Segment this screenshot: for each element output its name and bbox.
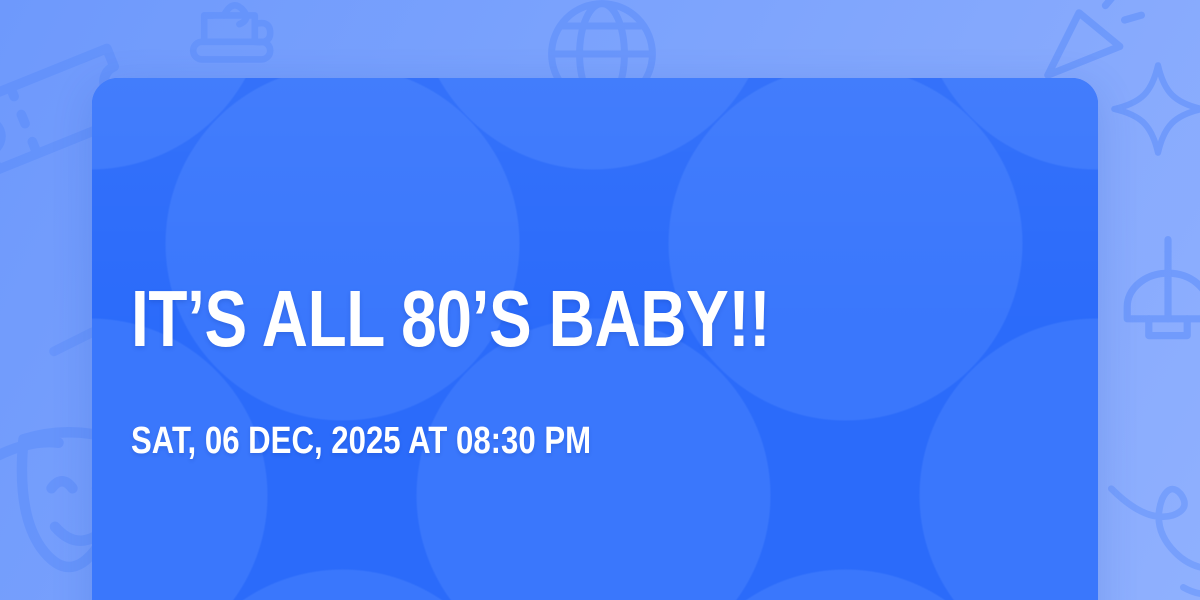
card-content: IT’S ALL 80’S BABY!! SAT, 06 DEC, 2025 A… xyxy=(131,78,1098,600)
sparkle-icon xyxy=(1106,50,1200,168)
event-card: IT’S ALL 80’S BABY!! SAT, 06 DEC, 2025 A… xyxy=(92,78,1098,600)
event-title: IT’S ALL 80’S BABY!! xyxy=(131,274,770,364)
cake-icon xyxy=(150,0,320,88)
event-banner: IT’S ALL 80’S BABY!! SAT, 06 DEC, 2025 A… xyxy=(0,0,1200,600)
streamer-swirl-icon xyxy=(1100,454,1200,600)
lantern-icon xyxy=(1108,226,1200,366)
event-datetime: SAT, 06 DEC, 2025 AT 08:30 PM xyxy=(131,418,591,464)
